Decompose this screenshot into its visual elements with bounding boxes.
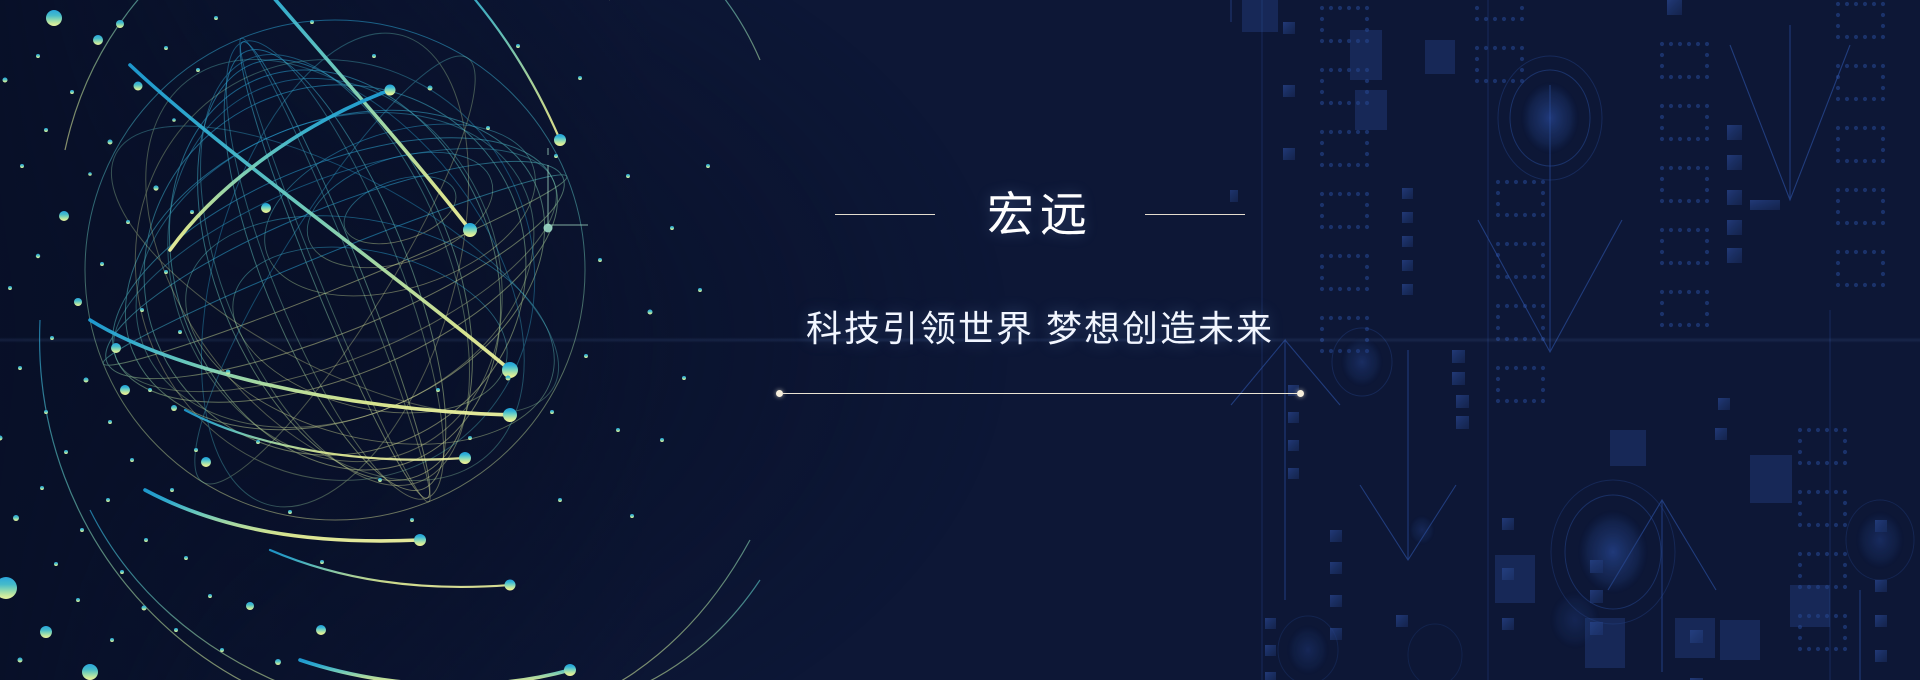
title-line-left [835, 214, 935, 215]
title-line-right [1145, 214, 1245, 215]
divider-dot-left [776, 390, 783, 397]
divider-dot-right [1297, 390, 1304, 397]
hero-banner: 宏远 科技引领世界 梦想创造未来 [0, 0, 1920, 680]
title-row: 宏远 [660, 160, 1420, 270]
divider-line [783, 393, 1297, 394]
page-subtitle: 科技引领世界 梦想创造未来 [806, 300, 1274, 352]
hero-content: 宏远 科技引领世界 梦想创造未来 [660, 0, 1420, 680]
divider-row [660, 390, 1420, 397]
page-title: 宏远 [987, 191, 1093, 238]
particle-dot-field [0, 0, 720, 680]
